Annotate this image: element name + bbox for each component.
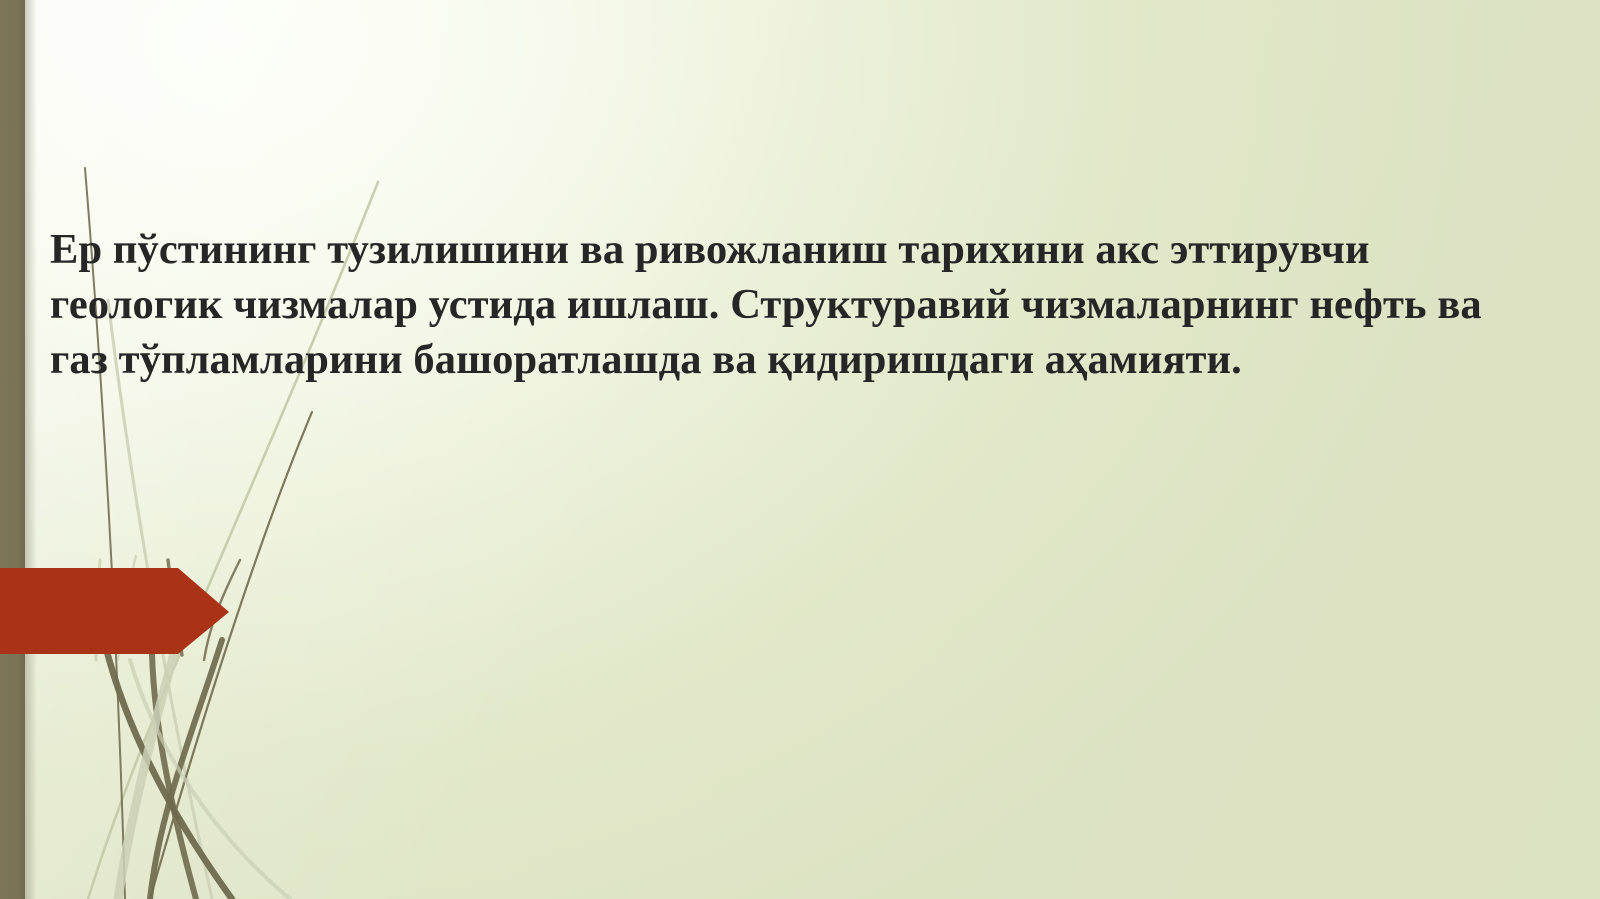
left-accent-bar [0,0,25,899]
slide-background-tint [0,0,1600,899]
left-accent-bar-shadow [25,0,37,899]
presentation-slide: Ер пўстининг тузилишини ва ривожланиш та… [0,0,1600,899]
red-chevron-accent [0,565,229,657]
slide-body-text: Ер пўстининг тузилишини ва ривожланиш та… [50,222,1540,387]
